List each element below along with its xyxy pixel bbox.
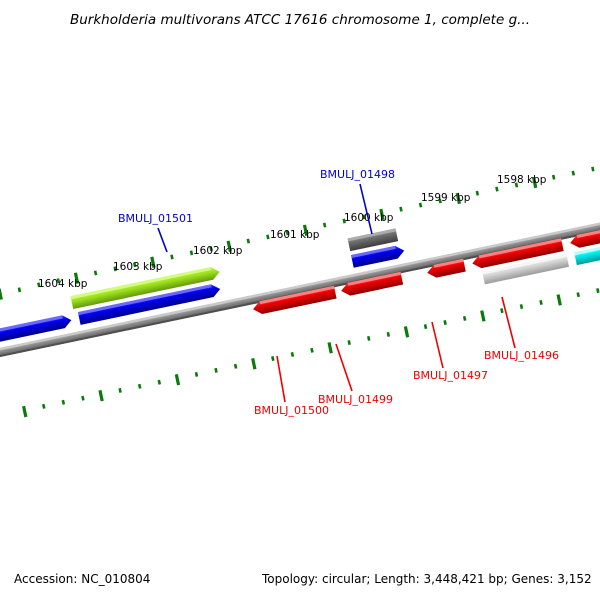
tick-label: 1603 kbp	[113, 261, 163, 273]
scale-labels: 1604 kbp 1603 kbp 1602 kbp 1601 kbp 1600…	[38, 174, 547, 290]
tick-label: 1602 kbp	[193, 245, 243, 257]
leader-line-01501	[158, 228, 167, 252]
tick-label: 1599 kbp	[421, 192, 471, 204]
tick-label: 1598 kbp	[497, 174, 547, 186]
genome-diagram: 1604 kbp 1603 kbp 1602 kbp 1601 kbp 1600…	[0, 0, 600, 600]
genome-map-viewer: Burkholderia multivorans ATCC 17616 chro…	[0, 0, 600, 600]
genome-stats-text: Topology: circular; Length: 3,448,421 bp…	[262, 572, 592, 586]
gene-label-BMULJ_01501[interactable]: BMULJ_01501	[118, 212, 193, 225]
gene-label-BMULJ_01497[interactable]: BMULJ_01497	[413, 369, 488, 382]
leader-line-01498	[360, 184, 372, 234]
accession-text: Accession: NC_010804	[14, 572, 150, 586]
gene-label-BMULJ_01496[interactable]: BMULJ_01496	[484, 349, 559, 362]
leader-line-01500	[277, 356, 285, 402]
gene-label-BMULJ_01498[interactable]: BMULJ_01498	[320, 168, 395, 181]
tick-label: 1601 kbp	[270, 229, 320, 241]
leader-line-01499	[336, 344, 352, 391]
leader-line-01497	[432, 322, 443, 368]
gene-label-BMULJ_01499[interactable]: BMULJ_01499	[318, 393, 393, 406]
leader-line-01496	[502, 297, 515, 348]
tick-label: 1604 kbp	[38, 278, 88, 290]
